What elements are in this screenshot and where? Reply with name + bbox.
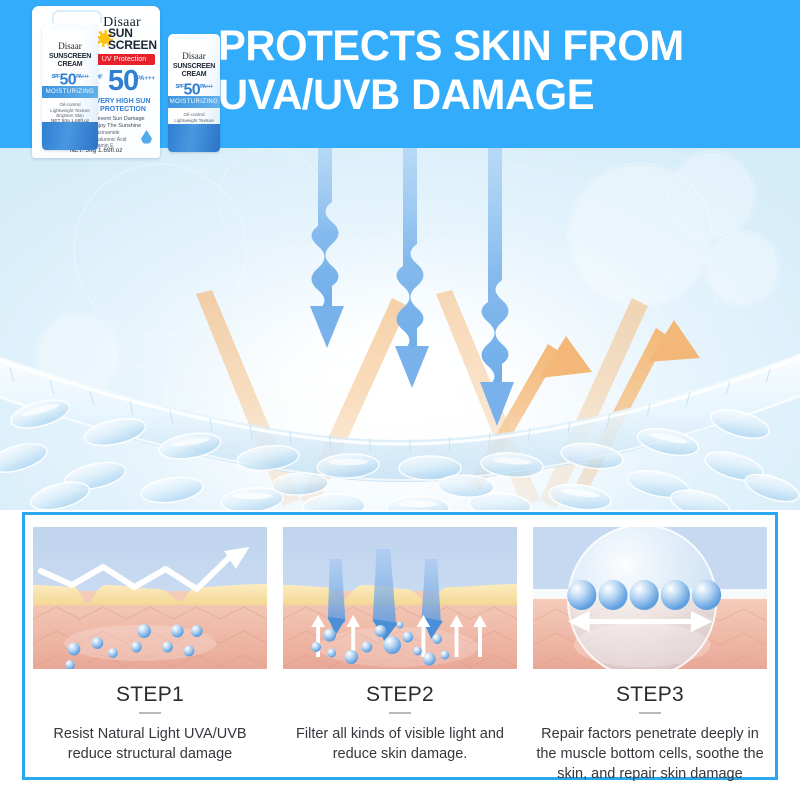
step-3-figure <box>533 527 767 669</box>
step-1-artwork <box>33 527 267 669</box>
tube-name-line-2: CREAM <box>42 61 98 69</box>
step-divider <box>389 712 411 714</box>
step-divider <box>139 712 161 714</box>
tube-spf: SPF50PA+++ <box>42 70 98 87</box>
tube-name-line-2: CREAM <box>168 71 220 79</box>
page-title: PROTECTS SKIN FROM UVA/UVB DAMAGE <box>218 22 771 120</box>
step-title: STEP1 <box>33 683 267 707</box>
uv-protection-badge: UV Protection <box>93 54 155 65</box>
step-description: Resist Natural Light UVA/UVB reduce stru… <box>33 724 267 764</box>
hero-illustration <box>0 140 800 510</box>
tube-shoulder <box>49 24 90 33</box>
pa-label: PA+++ <box>137 76 155 82</box>
step-description: Repair factors penetrate deeply in the m… <box>533 724 767 784</box>
product-image-group: Disaar SUN SCREEN UV Protection SPF PA++… <box>18 4 218 162</box>
product-tube-standalone: Disaar SUNSCREEN CREAM SPF50PA+++ MOISTU… <box>168 34 220 152</box>
tube-cap <box>168 124 220 152</box>
tube-moisturizing-band: MOISTURIZING <box>168 96 220 108</box>
tube-brand: Disaar <box>42 41 98 51</box>
product-tube-in-pack: Disaar SUNSCREEN CREAM SPF50PA+++ MOISTU… <box>42 24 98 150</box>
step-title: STEP2 <box>283 683 517 707</box>
step-item: STEP3 Repair factors penetrate deeply in… <box>525 515 775 777</box>
steps-card: STEP1 Resist Natural Light UVA/UVB reduc… <box>22 512 778 780</box>
step-1-figure <box>33 527 267 669</box>
step-divider <box>639 712 661 714</box>
tube-product-name: SUNSCREEN CREAM <box>42 53 98 69</box>
step-2-figure <box>283 527 517 669</box>
screen-word: SCREEN <box>108 40 154 52</box>
step-2-artwork <box>283 527 517 669</box>
step-item: STEP2 Filter all kinds of visible light … <box>275 515 525 777</box>
sunscreen-wordmark: SUN SCREEN <box>108 28 154 51</box>
tube-name-line-1: SUNSCREEN <box>42 53 98 61</box>
tube-name-line-1: SUNSCREEN <box>168 63 220 71</box>
promo-text: Prevent Sun Damage Enjoy The Sunshine <box>92 116 154 129</box>
tube-description: Oil-control Lightweight Texture Brighten… <box>48 102 92 119</box>
step-description: Filter all kinds of visible light and re… <box>283 724 517 764</box>
tube-moisturizing-band: MOISTURIZING <box>42 86 98 98</box>
product-blister-pack: Disaar SUN SCREEN UV Protection SPF PA++… <box>32 6 160 158</box>
step-item: STEP1 Resist Natural Light UVA/UVB reduc… <box>25 515 275 777</box>
tube-cap <box>42 122 98 150</box>
poster-canvas: PROTECTS SKIN FROM UVA/UVB DAMAGE Disaar… <box>0 0 800 800</box>
repair-spheres <box>567 580 721 610</box>
promo-line-2: Enjoy The Sunshine <box>92 123 154 130</box>
protection-line: VERY HIGH SUN PROTECTION <box>91 98 155 114</box>
tube-shoulder <box>175 34 213 43</box>
tube-pa-label: PA+++ <box>200 84 212 90</box>
tube-brand: Disaar <box>168 51 220 61</box>
tube-product-name: SUNSCREEN CREAM <box>168 63 220 79</box>
tube-spf: SPF50PA+++ <box>168 80 220 97</box>
spf-block: SPF PA+++ 50 <box>91 68 155 95</box>
steps-row: STEP1 Resist Natural Light UVA/UVB reduc… <box>25 515 775 777</box>
hero-vector-artwork <box>0 140 800 510</box>
step-3-artwork <box>533 527 767 669</box>
tube-pa-label: PA+++ <box>76 74 88 80</box>
step-title: STEP3 <box>533 683 767 707</box>
